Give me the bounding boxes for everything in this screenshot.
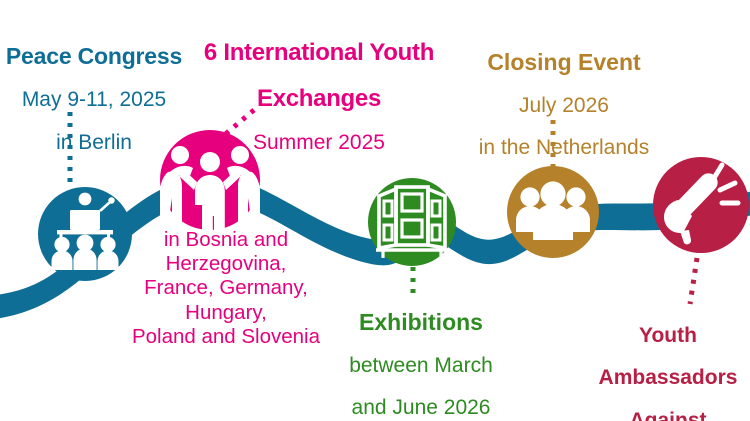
label-peace-congress: Peace Congress May 9-11, 2025 in Berlin (0, 24, 194, 174)
group-of-three-icon (516, 181, 590, 240)
peace-congress-title: Peace Congress (0, 43, 194, 70)
milestone-icon-closing-event[interactable] (507, 166, 599, 258)
infographic-canvas: Peace Congress May 9-11, 2025 in Berlin … (0, 0, 750, 421)
label-exchange-countries: in Bosnia and Herzegovina, France, Germa… (128, 228, 324, 349)
circle-exhibitions (368, 178, 456, 266)
youth-exchanges-title-line2: Exchanges (181, 85, 457, 113)
closing-event-title: Closing Event (452, 49, 676, 76)
connector-youth-ambassadors (690, 258, 697, 304)
youth-ambassadors-line1: Youth (586, 324, 750, 348)
label-closing-event: Closing Event July 2026 in the Netherlan… (452, 30, 676, 179)
closing-event-location: in the Netherlands (452, 136, 676, 160)
peace-congress-date: May 9-11, 2025 (0, 88, 194, 112)
label-exhibitions: Exhibitions between March and June 2026 (326, 290, 516, 421)
youth-ambassadors-line3: Against (586, 409, 750, 421)
exhibitions-title: Exhibitions (326, 309, 516, 336)
milestone-icon-peace-congress[interactable] (38, 187, 132, 281)
label-youth-ambassadors: Youth Ambassadors Against forgetting (586, 305, 750, 421)
exhibitions-date-line1: between March (326, 354, 516, 378)
exhibitions-date-line2: and June 2026 (326, 396, 516, 420)
milestone-icon-exhibitions[interactable] (368, 178, 456, 266)
closing-event-date: July 2026 (452, 94, 676, 118)
label-youth-exchanges: 6 International Youth Exchanges Summer 2… (181, 20, 457, 174)
youth-exchanges-date: Summer 2025 (181, 131, 457, 155)
youth-ambassadors-line2: Ambassadors (586, 366, 750, 390)
youth-exchanges-title-line1: 6 International Youth (181, 39, 457, 67)
peace-congress-location: in Berlin (0, 131, 194, 155)
